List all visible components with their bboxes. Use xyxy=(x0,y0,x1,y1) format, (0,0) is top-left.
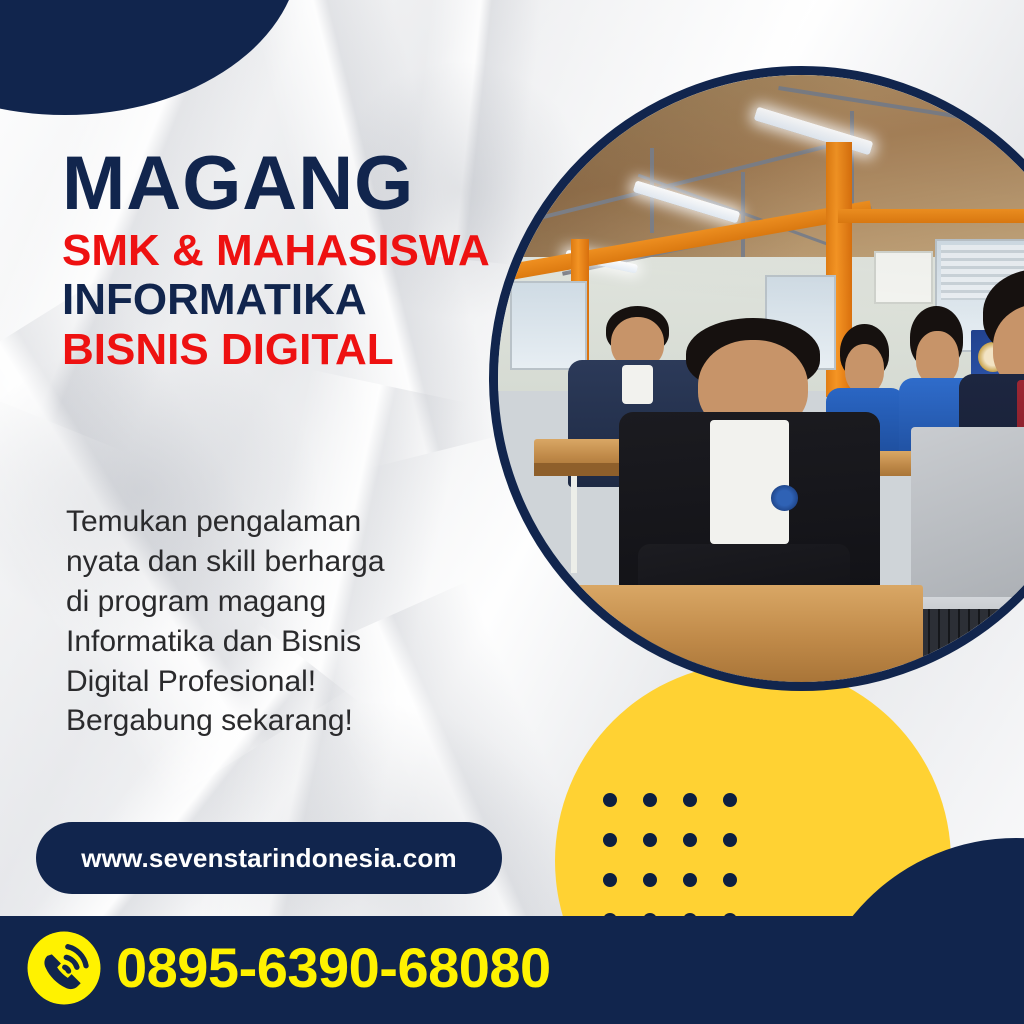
grid-dot xyxy=(723,873,737,887)
grid-dot xyxy=(643,833,657,847)
photo-scene xyxy=(498,75,1024,682)
headline-block: MAGANG SMK & MAHASISWA INFORMATIKA BISNI… xyxy=(62,148,502,374)
promotional-poster: MAGANG SMK & MAHASISWA INFORMATIKA BISNI… xyxy=(0,0,1024,1024)
grid-dot xyxy=(643,873,657,887)
grid-dot xyxy=(723,793,737,807)
headline-subtitle-3: BISNIS DIGITAL xyxy=(62,325,502,374)
headline-subtitle-2: INFORMATIKA xyxy=(62,275,502,324)
grid-dot xyxy=(643,793,657,807)
grid-dot xyxy=(683,793,697,807)
phone-contact[interactable]: 0895-6390-68080 xyxy=(26,930,551,1006)
grid-dot xyxy=(603,873,617,887)
grid-dot xyxy=(723,833,737,847)
website-url-label: www.sevenstarindonesia.com xyxy=(81,843,457,874)
phone-ring-icon xyxy=(26,930,102,1006)
website-button[interactable]: www.sevenstarindonesia.com xyxy=(36,822,502,894)
grid-dot xyxy=(683,833,697,847)
grid-dot xyxy=(683,873,697,887)
body-description: Temukan pengalaman nyata dan skill berha… xyxy=(66,502,476,741)
classroom-photo xyxy=(489,66,1024,691)
grid-dot xyxy=(603,793,617,807)
grid-dot xyxy=(603,833,617,847)
phone-number-label: 0895-6390-68080 xyxy=(116,940,551,996)
headline-subtitle-1: SMK & MAHASISWA xyxy=(62,226,502,275)
page-title: MAGANG xyxy=(62,148,502,220)
photo-grade xyxy=(498,75,1024,682)
